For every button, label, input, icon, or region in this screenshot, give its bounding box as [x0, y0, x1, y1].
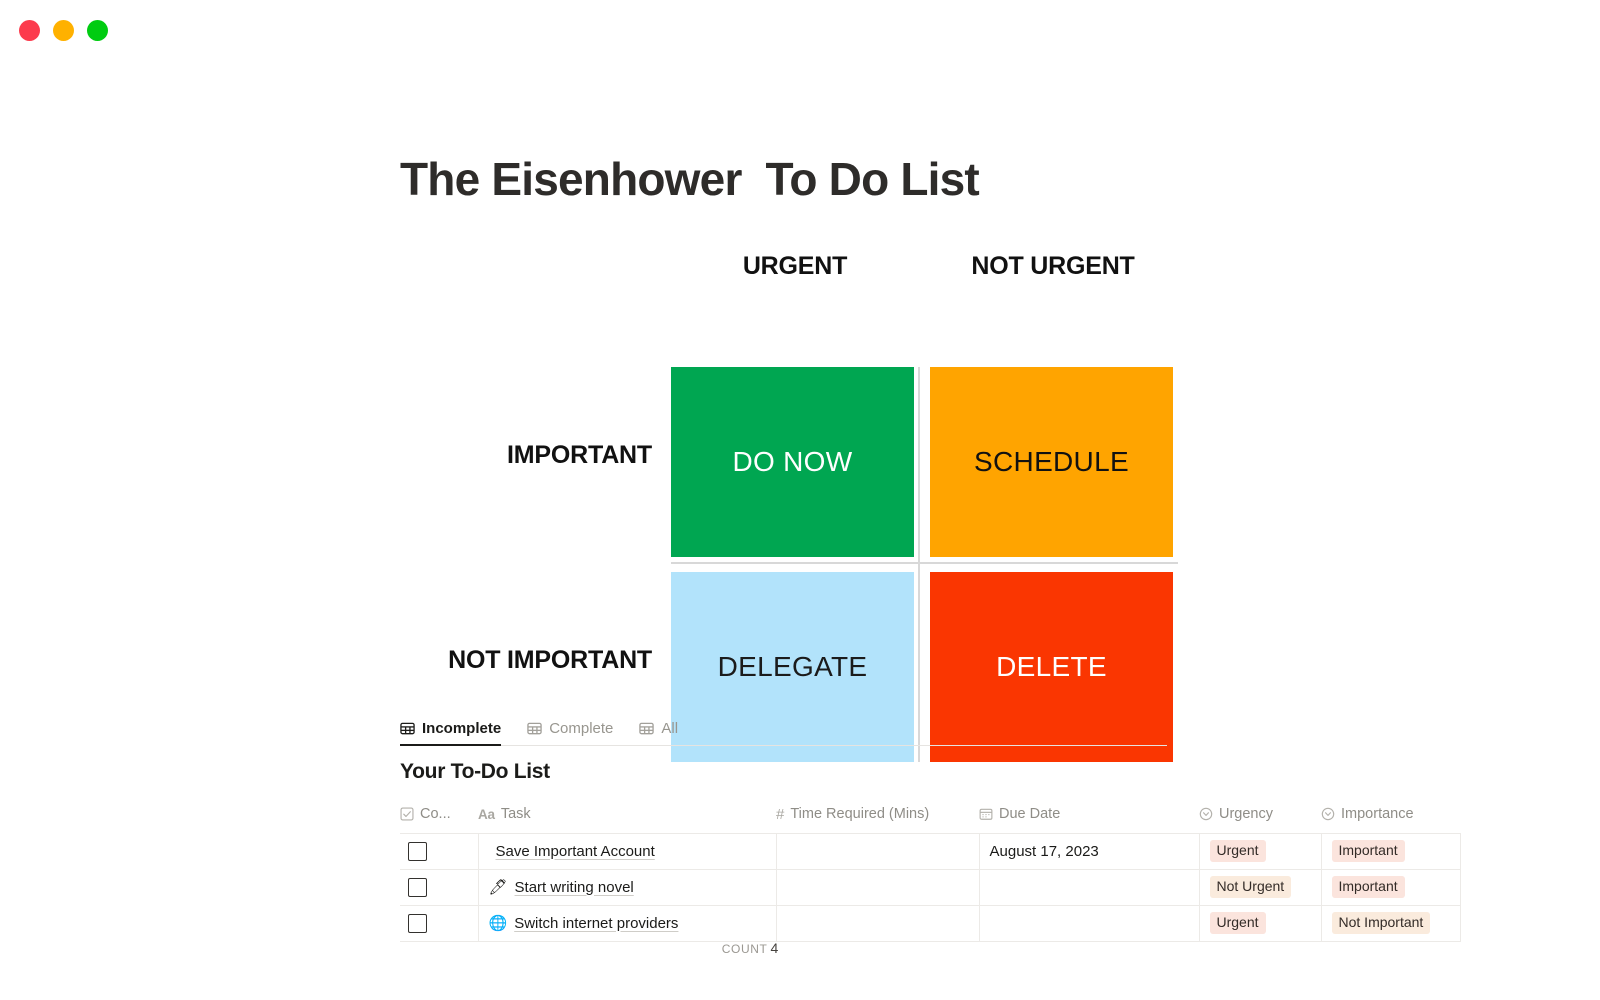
- column-header-task-label: Task: [501, 806, 531, 822]
- complete-checkbox[interactable]: [408, 914, 427, 933]
- row-urgency-cell[interactable]: Urgent: [1199, 833, 1321, 869]
- task-title[interactable]: Switch internet providers: [514, 915, 678, 932]
- tab-complete[interactable]: Complete: [527, 720, 613, 745]
- importance-tag: Not Important: [1332, 912, 1431, 934]
- close-button[interactable]: [19, 20, 40, 41]
- complete-checkbox[interactable]: [408, 842, 427, 861]
- task-emoji-icon: 🌐: [489, 916, 508, 931]
- table-row: 🌐 Switch internet providers Urgent Not I…: [400, 905, 1460, 941]
- row-time-required-cell[interactable]: [776, 869, 979, 905]
- matrix-vertical-divider: [918, 367, 920, 762]
- row-importance-cell[interactable]: Not Important: [1321, 905, 1460, 941]
- checkbox-icon: [400, 807, 414, 821]
- column-header-importance-label: Importance: [1341, 806, 1414, 822]
- tab-incomplete-label: Incomplete: [422, 720, 501, 737]
- row-task-cell[interactable]: Save Important Account: [478, 833, 776, 869]
- column-header-urgency-label: Urgency: [1219, 806, 1273, 822]
- importance-tag: Important: [1332, 876, 1405, 898]
- column-header-time-required-label: Time Required (Mins): [790, 806, 929, 822]
- table-icon: [527, 721, 542, 736]
- select-circle-icon: [1199, 807, 1213, 821]
- column-header-importance[interactable]: Importance: [1321, 800, 1460, 833]
- matrix-quadrant-schedule[interactable]: SCHEDULE: [930, 367, 1173, 557]
- count-label: COUNT: [722, 942, 768, 956]
- calendar-icon: [979, 807, 993, 821]
- task-emoji-icon: 🖊: [489, 880, 508, 895]
- urgency-tag: Not Urgent: [1210, 876, 1292, 898]
- row-time-required-cell[interactable]: [776, 905, 979, 941]
- importance-tag: Important: [1332, 840, 1405, 862]
- row-task-cell[interactable]: 🌐 Switch internet providers: [478, 905, 776, 941]
- task-title[interactable]: Save Important Account: [496, 843, 655, 860]
- urgency-tag: Urgent: [1210, 912, 1266, 934]
- task-title[interactable]: Start writing novel: [515, 879, 634, 896]
- page-content: The Eisenhower To Do List URGENT NOT URG…: [0, 60, 1600, 1000]
- column-header-time-required[interactable]: # Time Required (Mins): [776, 800, 979, 833]
- matrix-row-header-important: IMPORTANT: [390, 435, 660, 475]
- row-checkbox-cell[interactable]: [400, 869, 478, 905]
- table-icon: [639, 721, 654, 736]
- todo-table-body: Save Important Account August 17, 2023 U…: [400, 833, 1460, 941]
- todo-table: Co... Aa Task # Time Required (Mins): [400, 800, 1461, 942]
- matrix-horizontal-divider: [671, 562, 1178, 564]
- hash-number-icon: #: [776, 806, 784, 823]
- row-due-date-cell[interactable]: [979, 905, 1199, 941]
- count-value: 4: [770, 940, 778, 956]
- tab-incomplete[interactable]: Incomplete: [400, 720, 501, 745]
- minimize-button[interactable]: [53, 20, 74, 41]
- row-due-date-cell[interactable]: [979, 869, 1199, 905]
- tab-all[interactable]: All: [639, 720, 678, 745]
- page-title: The Eisenhower To Do List: [400, 152, 979, 206]
- column-header-due-date[interactable]: Due Date: [979, 800, 1199, 833]
- urgency-tag: Urgent: [1210, 840, 1266, 862]
- table-row: 🖊 Start writing novel Not Urgent Importa…: [400, 869, 1460, 905]
- row-checkbox-cell[interactable]: [400, 905, 478, 941]
- row-task-cell[interactable]: 🖊 Start writing novel: [478, 869, 776, 905]
- row-importance-cell[interactable]: Important: [1321, 869, 1460, 905]
- table-count-footer: COUNT4: [400, 940, 1100, 956]
- window-titlebar: [0, 0, 1600, 60]
- column-header-complete-label: Co...: [420, 806, 451, 822]
- matrix-quadrant-do-now[interactable]: DO NOW: [671, 367, 914, 557]
- row-importance-cell[interactable]: Important: [1321, 833, 1460, 869]
- tab-all-label: All: [661, 720, 678, 737]
- select-circle-icon: [1321, 807, 1335, 821]
- matrix-row-header-not-important: NOT IMPORTANT: [390, 640, 660, 680]
- database-title: Your To-Do List: [400, 760, 550, 784]
- complete-checkbox[interactable]: [408, 878, 427, 897]
- column-header-due-date-label: Due Date: [999, 806, 1060, 822]
- row-due-date-cell[interactable]: August 17, 2023: [979, 833, 1199, 869]
- tab-complete-label: Complete: [549, 720, 613, 737]
- matrix-column-header-not-urgent: NOT URGENT: [928, 245, 1178, 287]
- maximize-button[interactable]: [87, 20, 108, 41]
- row-urgency-cell[interactable]: Urgent: [1199, 905, 1321, 941]
- row-checkbox-cell[interactable]: [400, 833, 478, 869]
- column-header-urgency[interactable]: Urgency: [1199, 800, 1321, 833]
- table-header-row: Co... Aa Task # Time Required (Mins): [400, 800, 1460, 833]
- column-header-task[interactable]: Aa Task: [478, 800, 776, 833]
- database-view-tabs: Incomplete Complete All: [400, 710, 1167, 746]
- table-icon: [400, 721, 415, 736]
- matrix-column-header-urgent: URGENT: [670, 245, 920, 287]
- column-header-complete[interactable]: Co...: [400, 800, 478, 833]
- row-urgency-cell[interactable]: Not Urgent: [1199, 869, 1321, 905]
- table-row: Save Important Account August 17, 2023 U…: [400, 833, 1460, 869]
- row-time-required-cell[interactable]: [776, 833, 979, 869]
- aa-text-icon: Aa: [478, 807, 495, 822]
- todo-table-header: Co... Aa Task # Time Required (Mins): [400, 800, 1460, 833]
